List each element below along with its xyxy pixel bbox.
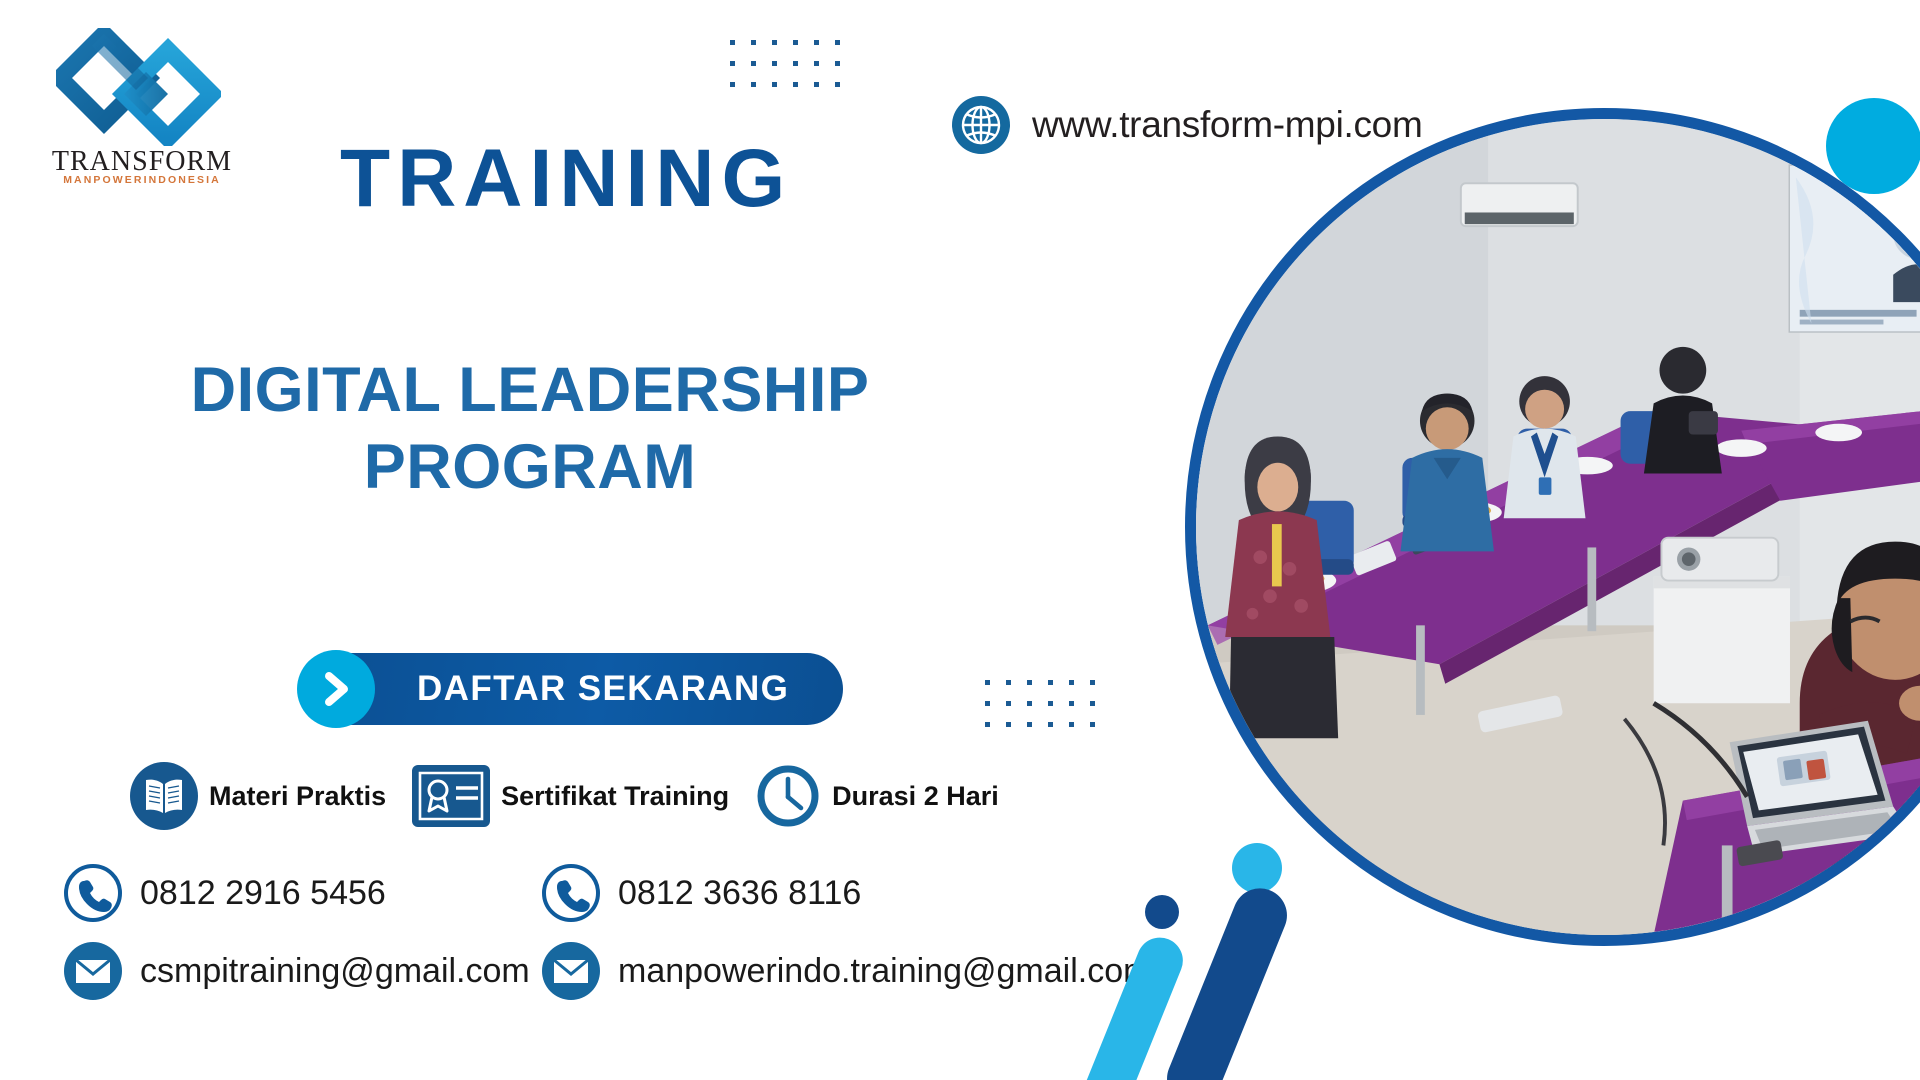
- decoration-dot: [1090, 722, 1095, 727]
- certificate-icon: [412, 765, 490, 827]
- chevron-right-icon: [297, 650, 375, 728]
- contact-phone-2[interactable]: 0812 3636 8116: [540, 862, 861, 924]
- decoration-dot: [793, 40, 798, 45]
- decoration-dot: [814, 40, 819, 45]
- decoration-dot: [793, 61, 798, 66]
- decoration-dot: [730, 82, 735, 87]
- register-now-label: DAFTAR SEKARANG: [417, 669, 789, 709]
- decoration-dot: [1069, 722, 1074, 727]
- logo-wordmark: TRANSFORM: [42, 148, 242, 176]
- email-address: csmpitraining@gmail.com: [140, 952, 530, 991]
- decoration-dot: [985, 680, 990, 685]
- decoration-dot: [1069, 680, 1074, 685]
- feature-label: Durasi 2 Hari: [832, 781, 999, 812]
- clock-icon: [755, 763, 821, 829]
- decoration-dot: [772, 61, 777, 66]
- phone-icon: [62, 862, 124, 924]
- contact-phone-1[interactable]: 0812 2916 5456: [62, 862, 386, 924]
- decoration-dot: [1006, 701, 1011, 706]
- decoration-dot: [1048, 722, 1053, 727]
- promo-banner: TRANSFORM MANPOWERINDONESIA TRAINING DIG…: [0, 0, 1920, 1080]
- brand-logo[interactable]: TRANSFORM MANPOWERINDONESIA: [28, 28, 248, 188]
- decoration-dot: [793, 82, 798, 87]
- phone-icon: [540, 862, 602, 924]
- decoration-dot: [835, 40, 840, 45]
- envelope-icon: [62, 940, 124, 1002]
- decoration-dot: [814, 61, 819, 66]
- decoration-dot: [1090, 680, 1095, 685]
- decoration-dot: [751, 61, 756, 66]
- phone-number: 0812 3636 8116: [618, 874, 861, 913]
- decoration-dot: [1048, 680, 1053, 685]
- logo-tagline: MANPOWERINDONESIA: [42, 175, 242, 186]
- decoration-dot: [730, 40, 735, 45]
- decoration-dot: [1090, 701, 1095, 706]
- decoration-dot: [1006, 722, 1011, 727]
- feature-sertifikat-training: Sertifikat Training: [412, 765, 729, 827]
- register-now-button[interactable]: DAFTAR SEKARANG: [305, 653, 843, 725]
- decoration-dot: [751, 40, 756, 45]
- page-title-line-1: DIGITAL LEADERSHIP: [120, 352, 940, 429]
- dot-grid-decoration-top: [730, 40, 850, 90]
- page-title-line-2: PROGRAM: [120, 429, 940, 506]
- decoration-dot: [772, 82, 777, 87]
- phone-number: 0812 2916 5456: [140, 874, 386, 913]
- globe-icon: [952, 96, 1010, 154]
- people-motif-decoration: [1000, 830, 1340, 1080]
- feature-label: Sertifikat Training: [501, 781, 729, 812]
- decoration-dot: [1006, 680, 1011, 685]
- envelope-icon: [540, 940, 602, 1002]
- decoration-dot: [1069, 701, 1074, 706]
- feature-materi-praktis: Materi Praktis: [130, 762, 386, 830]
- page-title: DIGITAL LEADERSHIP PROGRAM: [120, 352, 940, 506]
- decoration-dot: [835, 61, 840, 66]
- open-book-icon: [130, 762, 198, 830]
- contact-email-1[interactable]: csmpitraining@gmail.com: [62, 940, 530, 1002]
- dot-grid-decoration-middle: [985, 680, 1105, 730]
- decoration-dot: [985, 722, 990, 727]
- decoration-dot: [1048, 701, 1053, 706]
- decoration-dot: [1027, 680, 1032, 685]
- features-row: Materi Praktis Sertifikat Training Duras…: [130, 762, 999, 830]
- decoration-dot: [751, 82, 756, 87]
- decoration-dot: [985, 701, 990, 706]
- feature-label: Materi Praktis: [209, 781, 386, 812]
- feature-durasi: Durasi 2 Hari: [755, 763, 999, 829]
- training-photo: [1185, 108, 1920, 946]
- decoration-dot: [772, 40, 777, 45]
- decoration-dot: [835, 82, 840, 87]
- eyebrow-title: TRAINING: [340, 138, 792, 220]
- decoration-dot: [1027, 722, 1032, 727]
- decoration-dot: [814, 82, 819, 87]
- decoration-dot: [730, 61, 735, 66]
- decoration-dot: [1027, 701, 1032, 706]
- interlocking-diamonds-icon: [56, 28, 221, 146]
